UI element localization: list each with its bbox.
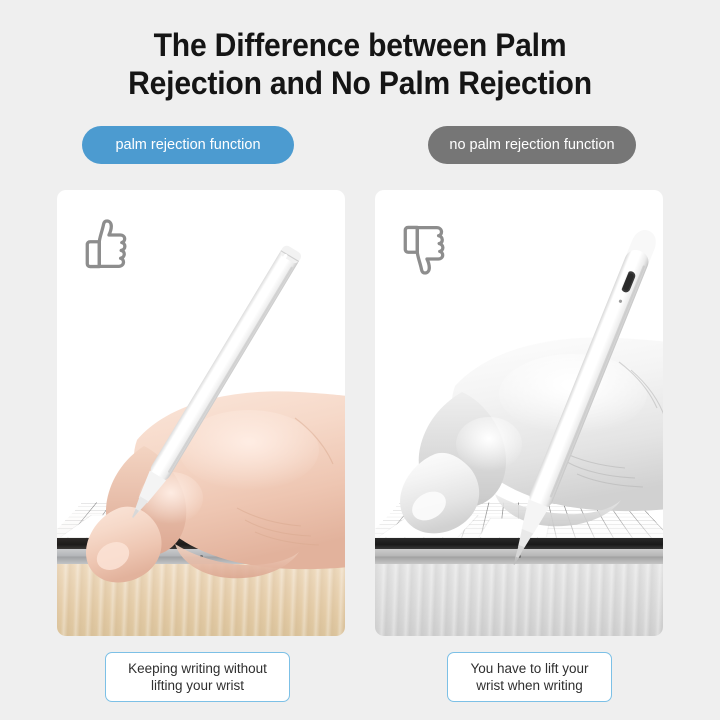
pill-palm-rejection: palm rejection function xyxy=(82,126,294,164)
page-title-line-1: The Difference between Palm xyxy=(22,26,699,64)
page-title-line-2: Rejection and No Palm Rejection xyxy=(22,64,699,102)
infographic-page: The Difference between Palm Rejection an… xyxy=(0,0,720,720)
panel-no-palm-rejection xyxy=(375,190,663,636)
panel-palm-rejection xyxy=(57,190,345,636)
label-pill-row: palm rejection function no palm rejectio… xyxy=(0,126,720,164)
stylus-pen-right xyxy=(493,204,663,584)
caption-no-palm-rejection: You have to lift your wrist when writing xyxy=(447,652,612,702)
pill-no-palm-rejection: no palm rejection function xyxy=(428,126,636,164)
thumbs-up-icon xyxy=(77,216,139,278)
scene-with-palm-rejection xyxy=(57,190,345,636)
stylus-pen-left xyxy=(125,216,315,546)
page-title: The Difference between Palm Rejection an… xyxy=(22,26,699,102)
caption-row: Keeping writing without lifting your wri… xyxy=(0,652,720,704)
thumbs-down-icon xyxy=(395,216,457,278)
caption-palm-rejection: Keeping writing without lifting your wri… xyxy=(105,652,290,702)
caption-left-line-2: lifting your wrist xyxy=(128,677,267,694)
caption-left-line-1: Keeping writing without xyxy=(128,660,267,677)
comparison-panels xyxy=(0,190,720,636)
caption-right-line-1: You have to lift your xyxy=(470,660,588,677)
caption-right-line-2: wrist when writing xyxy=(470,677,588,694)
scene-without-palm-rejection xyxy=(375,190,663,636)
